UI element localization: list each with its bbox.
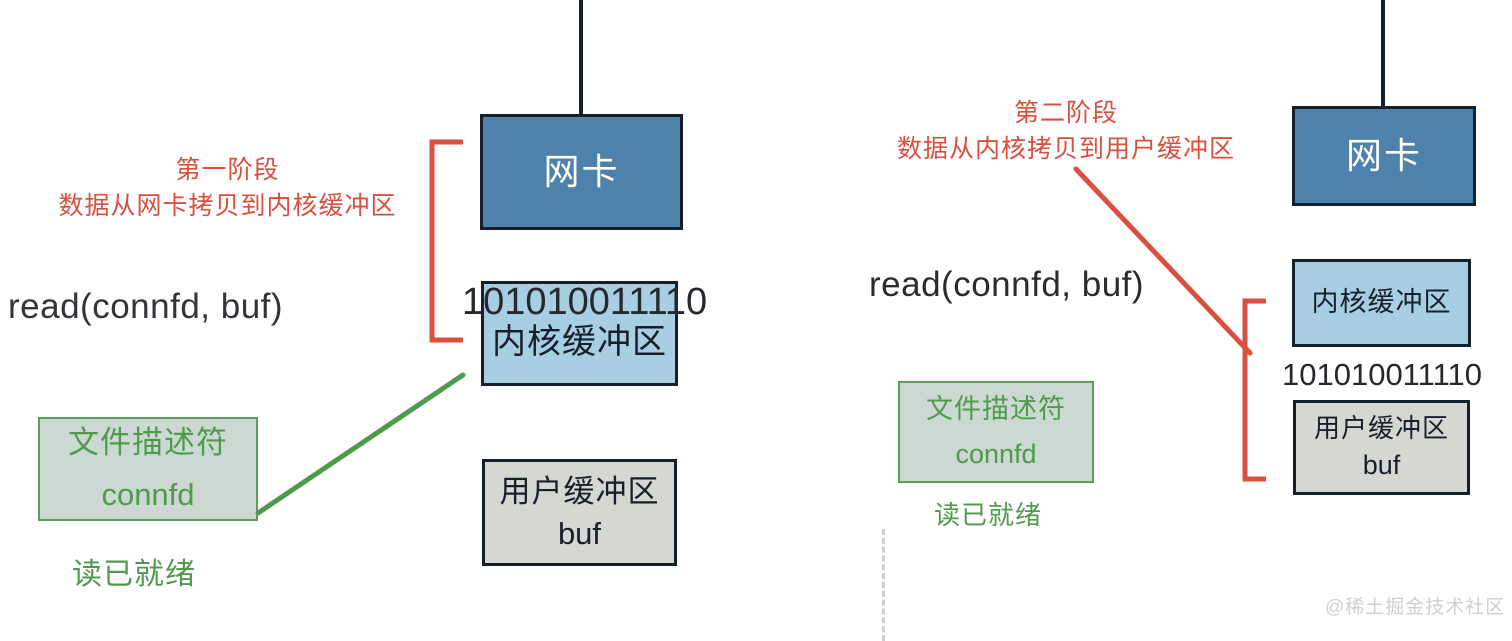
fd-var-left: connfd xyxy=(101,477,194,513)
user-buffer-label-right: 用户缓冲区 xyxy=(1314,414,1449,444)
kernel-buffer-label-left: 内核缓冲区 xyxy=(492,323,667,362)
diagram-canvas: 第一阶段 数据从网卡拷贝到内核缓冲区 read(connfd, buf) 网卡 … xyxy=(0,0,1512,641)
syscall-read-right: read(connfd, buf) xyxy=(869,265,1144,305)
stage-two-description: 数据从内核拷贝到用户缓冲区 xyxy=(880,131,1252,167)
fd-to-kernel-connector xyxy=(258,375,463,513)
syscall-read-left: read(connfd, buf) xyxy=(8,287,283,327)
nic-label-right: 网卡 xyxy=(1346,135,1422,176)
stage-one-description: 数据从网卡拷贝到内核缓冲区 xyxy=(40,188,415,224)
stage-one-title: 第一阶段 xyxy=(40,152,415,188)
nic-box-right: 网卡 xyxy=(1292,106,1476,206)
nic-label-left: 网卡 xyxy=(543,151,619,192)
network-feed-line-right xyxy=(1381,0,1385,107)
stage-two-bracket xyxy=(1245,301,1266,479)
panel-divider xyxy=(882,529,885,641)
network-feed-line-left xyxy=(579,0,583,115)
fd-label-left: 文件描述符 xyxy=(68,425,228,461)
fd-status-left: 读已就绪 xyxy=(72,549,196,593)
binary-stream-right: 101010011110 xyxy=(1282,357,1482,393)
nic-box-left: 网卡 xyxy=(480,114,683,230)
file-descriptor-box-left: 文件描述符 connfd xyxy=(38,417,258,521)
user-buffer-box-left: 用户缓冲区 buf xyxy=(482,459,677,566)
kernel-buffer-label-right: 内核缓冲区 xyxy=(1312,287,1452,318)
stage-one-annotation: 第一阶段 数据从网卡拷贝到内核缓冲区 xyxy=(40,152,415,225)
user-buffer-var-right: buf xyxy=(1363,450,1401,481)
kernel-buffer-box-right: 内核缓冲区 xyxy=(1292,259,1471,347)
stage-two-annotation: 第二阶段 数据从内核拷贝到用户缓冲区 xyxy=(880,95,1252,168)
fd-var-right: connfd xyxy=(955,439,1036,470)
fd-status-right: 读已就绪 xyxy=(934,495,1042,532)
user-buffer-label-left: 用户缓冲区 xyxy=(500,474,660,510)
file-descriptor-box-right: 文件描述符 connfd xyxy=(898,381,1094,483)
watermark: @稀土掘金技术社区 xyxy=(1325,592,1505,619)
stage-two-title: 第二阶段 xyxy=(880,95,1252,131)
binary-stream-left: 101010011110 xyxy=(462,281,707,324)
fd-label-right: 文件描述符 xyxy=(926,394,1066,425)
user-buffer-var-left: buf xyxy=(558,516,601,552)
stage-one-bracket xyxy=(432,142,463,340)
user-buffer-box-right: 用户缓冲区 buf xyxy=(1293,400,1470,495)
stage-two-pointer-line xyxy=(1076,169,1250,353)
